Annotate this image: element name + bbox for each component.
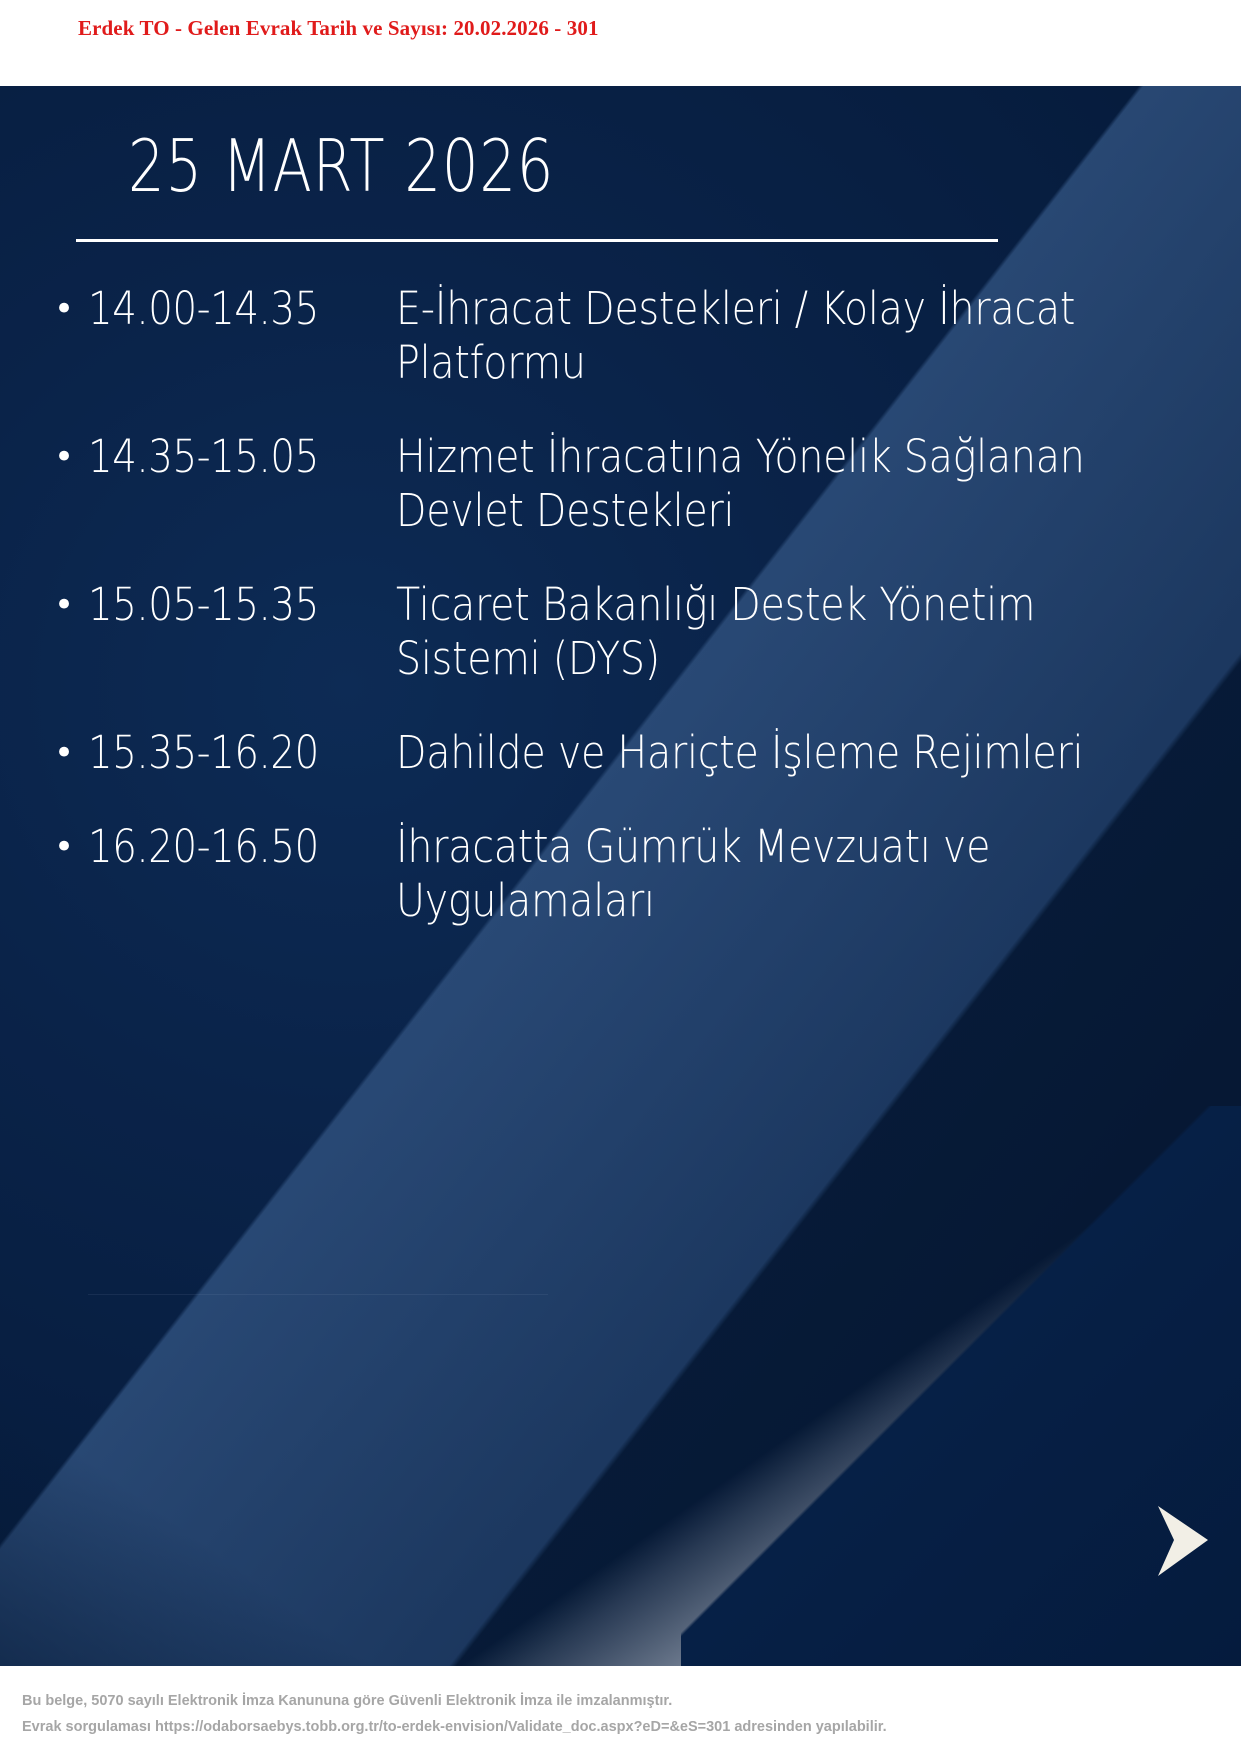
slide-title: 25 MART 2026 bbox=[128, 130, 554, 202]
document-header-stamp: Erdek TO - Gelen Evrak Tarih ve Sayısı: … bbox=[0, 0, 1241, 86]
agenda-item: • 14.00-14.35 E-İhracat Destekleri / Kol… bbox=[40, 282, 1220, 390]
title-underline-rule bbox=[76, 239, 998, 242]
agenda-item: • 15.05-15.35 Ticaret Bakanlığı Destek Y… bbox=[40, 578, 1220, 686]
bullet-icon: • bbox=[40, 578, 88, 632]
agenda-item-topic: E-İhracat Destekleri / Kolay İhracat Pla… bbox=[396, 282, 1121, 390]
agenda-item-time: 14.35-15.05 bbox=[88, 430, 353, 484]
agenda-item-topic: İhracatta Gümrük Mevzuatı ve Uygulamalar… bbox=[396, 820, 1121, 928]
bullet-icon: • bbox=[40, 820, 88, 874]
agenda-item-topic: Hizmet İhracatına Yönelik Sağlanan Devle… bbox=[396, 430, 1121, 538]
agenda-item-time: 16.20-16.50 bbox=[88, 820, 353, 874]
agenda-item-topic: Dahilde ve Hariçte İşleme Rejimleri bbox=[396, 726, 1121, 780]
agenda-item: • 14.35-15.05 Hizmet İhracatına Yönelik … bbox=[40, 430, 1220, 538]
presentation-slide: 25 MART 2026 • 14.00-14.35 E-İhracat Des… bbox=[0, 86, 1241, 1666]
next-arrow-icon bbox=[1150, 1502, 1212, 1580]
agenda-item-time: 15.35-16.20 bbox=[88, 726, 353, 780]
bullet-icon: • bbox=[40, 282, 88, 336]
document-footer: Bu belge, 5070 sayılı Elektronik İmza Ka… bbox=[0, 1666, 1241, 1754]
slide-content: 25 MART 2026 • 14.00-14.35 E-İhracat Des… bbox=[0, 86, 1241, 1666]
agenda-item-topic: Ticaret Bakanlığı Destek Yönetim Sistemi… bbox=[396, 578, 1121, 686]
agenda-item-time: 14.00-14.35 bbox=[88, 282, 353, 336]
footer-signature-notice: Bu belge, 5070 sayılı Elektronik İmza Ka… bbox=[22, 1693, 672, 1709]
bullet-icon: • bbox=[40, 430, 88, 484]
incoming-document-stamp-text: Erdek TO - Gelen Evrak Tarih ve Sayısı: … bbox=[78, 16, 599, 41]
agenda-list: • 14.00-14.35 E-İhracat Destekleri / Kol… bbox=[40, 282, 1220, 968]
footer-validation-url: Evrak sorgulaması https://odaborsaebys.t… bbox=[22, 1719, 887, 1735]
agenda-item: • 15.35-16.20 Dahilde ve Hariçte İşleme … bbox=[40, 726, 1220, 780]
agenda-item: • 16.20-16.50 İhracatta Gümrük Mevzuatı … bbox=[40, 820, 1220, 928]
agenda-item-time: 15.05-15.35 bbox=[88, 578, 353, 632]
bullet-icon: • bbox=[40, 726, 88, 780]
